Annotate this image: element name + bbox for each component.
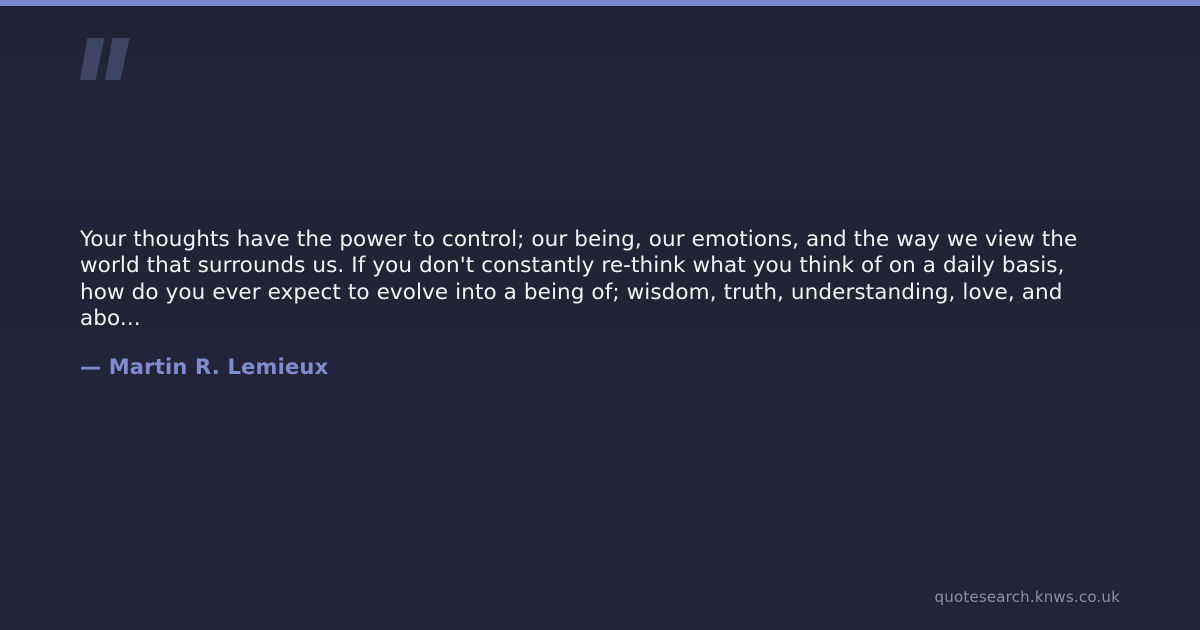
double-quote-open-icon [80,38,130,80]
top-accent-bar [0,0,1200,6]
site-url-label: quotesearch.knws.co.uk [935,588,1120,606]
quote-card: Your thoughts have the power to control;… [0,0,1200,630]
quote-text: Your thoughts have the power to control;… [80,227,1110,333]
quote-author: — Martin R. Lemieux [80,355,328,379]
card-content: Your thoughts have the power to control;… [0,0,1200,630]
